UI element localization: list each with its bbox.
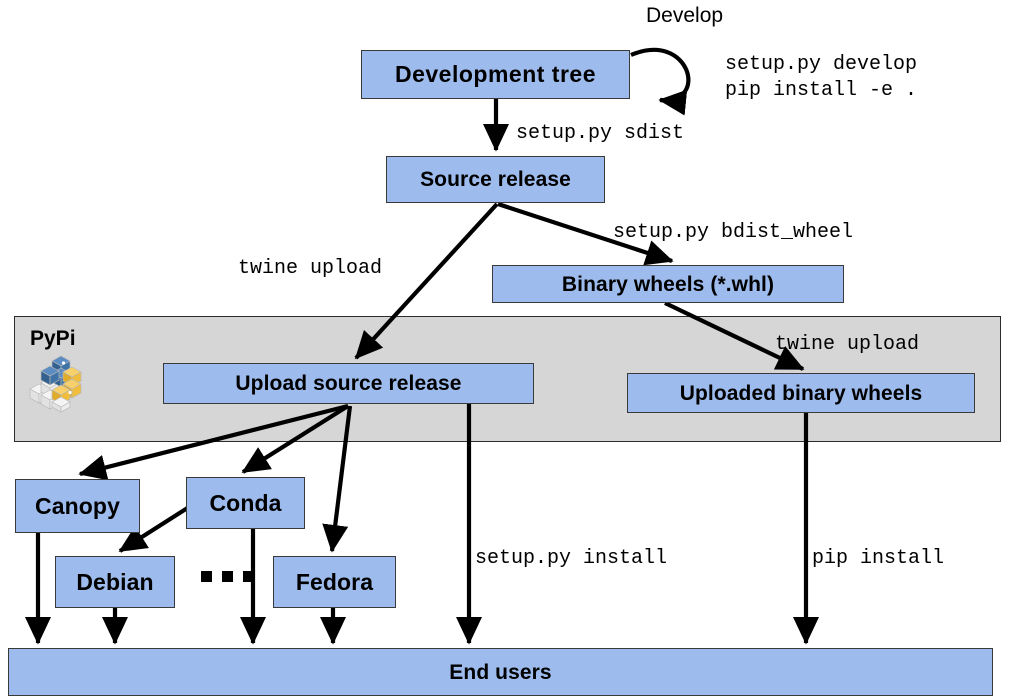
- edge-develop-loop: [631, 50, 688, 100]
- ellipsis-dot: [243, 571, 254, 582]
- edge-label-twine-upload-wheels: twine upload: [775, 332, 919, 358]
- node-binary-wheels[interactable]: Binary wheels (*.whl): [492, 265, 844, 303]
- edge-upload-source-to-fedora: [332, 406, 350, 551]
- edge-label-pip-install: pip install: [812, 546, 944, 572]
- node-canopy[interactable]: Canopy: [15, 479, 140, 533]
- node-label: Upload source release: [235, 373, 461, 394]
- edge-upload-source-to-canopy: [80, 406, 348, 474]
- edge-label-develop: Develop: [646, 4, 723, 28]
- node-label: Binary wheels (*.whl): [562, 274, 774, 295]
- node-label: Development tree: [395, 63, 596, 86]
- node-label: Uploaded binary wheels: [680, 383, 923, 404]
- edge-label-develop-commands: setup.py develop pip install -e .: [725, 52, 917, 105]
- edge-upload-source-to-conda: [243, 406, 348, 472]
- node-upload-source-release[interactable]: Upload source release: [163, 363, 534, 404]
- diagram-canvas: Development tree Source release Binary w…: [0, 0, 1009, 698]
- node-debian[interactable]: Debian: [55, 556, 175, 608]
- node-fedora[interactable]: Fedora: [273, 556, 396, 608]
- edge-label-bdist-wheel: setup.py bdist_wheel: [613, 220, 853, 246]
- node-source-release[interactable]: Source release: [386, 156, 605, 203]
- pypi-group-label: PyPi: [30, 327, 76, 351]
- node-label: Conda: [209, 492, 281, 515]
- node-label: Debian: [76, 571, 153, 594]
- node-label: Source release: [420, 169, 571, 190]
- ellipsis-dot: [201, 571, 212, 582]
- node-label: End users: [449, 662, 551, 683]
- node-end-users[interactable]: End users: [8, 648, 993, 696]
- node-uploaded-binary-wheels[interactable]: Uploaded binary wheels: [627, 373, 975, 413]
- python-logo-icon: [26, 353, 90, 413]
- ellipsis-dot: [222, 571, 233, 582]
- edge-label-twine-upload-source: twine upload: [238, 256, 382, 282]
- node-conda[interactable]: Conda: [186, 477, 305, 529]
- node-label: Canopy: [35, 495, 120, 518]
- edge-label-setup-py-install: setup.py install: [475, 546, 667, 572]
- node-development-tree[interactable]: Development tree: [361, 50, 630, 99]
- edge-label-sdist: setup.py sdist: [516, 121, 684, 147]
- node-label: Fedora: [296, 571, 373, 594]
